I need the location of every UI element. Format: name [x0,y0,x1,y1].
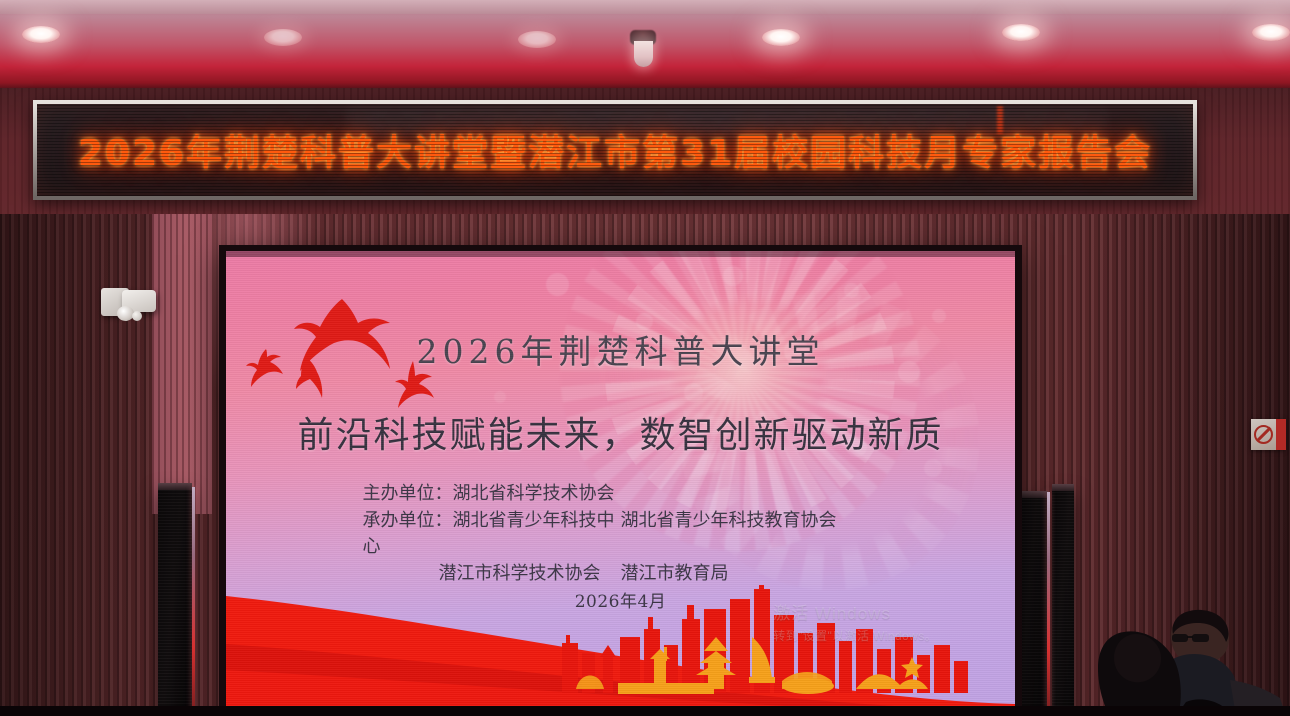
screen-title: 2026年荆楚科普大讲堂 [226,325,1015,373]
bokeh-circle [723,266,743,286]
organizer-label: 承办单位： [363,510,453,531]
bokeh-circle [684,383,703,402]
led-display-bezel: 2026年荆楚科普大讲堂 前沿科技赋能未来，数智创新驱动新质 主办单位：湖北省科… [219,245,1022,716]
ceiling-edge-trim [0,0,1290,14]
ceiling-downlight [22,26,60,43]
organizer-value-2: 湖北省青少年科技教育协会 [621,508,879,561]
organizer-row: 主办单位：湖北省科学技术协会 [226,481,1015,508]
person-woman-long-hair [1098,631,1181,716]
audience-right-group [1040,576,1290,716]
ceiling-downlight [264,29,302,46]
watermark-line-1: 激活 Windows [773,599,937,624]
led-scrolling-banner: 2026年荆楚科普大讲堂暨潜江市第31届校园科技月专家报告会 [33,100,1197,200]
speaker-cap-right-b [1052,484,1074,491]
ceiling-downlight [518,31,556,48]
sign-red-tab [1276,419,1286,450]
organizer-row: 潜江市科学技术协会 潜江市教育局 [226,561,1015,588]
ceiling-downlight [762,29,800,46]
ceiling-downlight [1252,24,1290,41]
security-camera-icon [101,288,159,328]
bokeh-circle [844,283,859,298]
organizer-row: 承办单位：湖北省青少年科技中心 湖北省青少年科技教育协会 [226,508,1015,561]
led-display-screen: 2026年荆楚科普大讲堂 前沿科技赋能未来，数智创新驱动新质 主办单位：湖北省科… [226,251,1015,716]
organizer-value-2: 潜江市教育局 [621,561,879,588]
conference-hall-photo: 2026年荆楚科普大讲堂暨潜江市第31届校园科技月专家报告会 [0,0,1290,716]
no-smoking-sign [1251,419,1285,450]
speaker-edge-light-left [192,487,195,716]
organizer-value: 湖北省科学技术协会 [453,483,615,504]
ceiling [0,0,1290,92]
bokeh-circle [924,459,942,477]
ceiling-downlight [1002,24,1040,41]
foreground-shadow-strip [0,706,1290,716]
smoke-detector-icon [628,30,658,72]
screen-subtitle: 前沿科技赋能未来，数智创新驱动新质 [226,406,1015,458]
organizer-value: 潜江市科学技术协会 [439,563,601,584]
bokeh-circle [932,309,946,323]
speaker-column-left [158,487,192,716]
wall-return-panel-left [152,214,212,514]
organizer-label: 主办单位： [363,483,453,504]
speaker-cap-left [158,483,192,490]
bokeh-circle [546,273,569,296]
watermark-line-2: 转到"设置"以激活 Windows。 [773,627,937,644]
windows-activation-watermark: 激活 Windows 转到"设置"以激活 Windows。 [773,599,937,644]
bokeh-circle [494,391,506,403]
organizer-value-2 [621,481,879,508]
led-banner-text: 2026年荆楚科普大讲堂暨潜江市第31届校园科技月专家报告会 [78,124,1152,176]
